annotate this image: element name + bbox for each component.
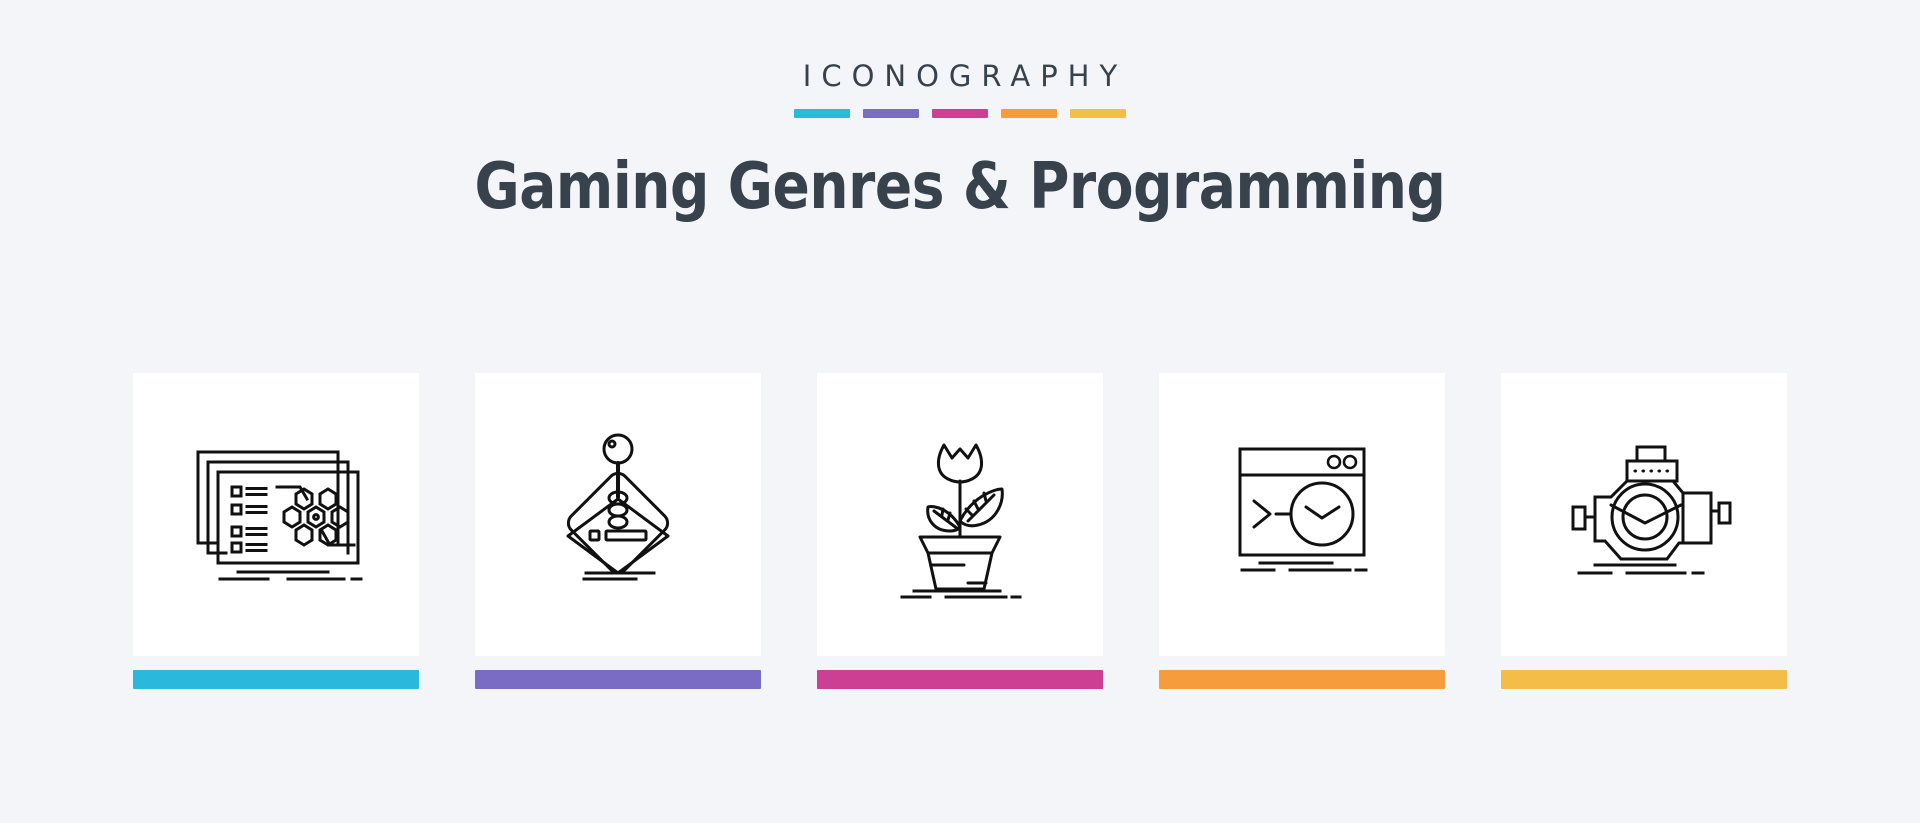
icon-card-potted-plant[interactable] [817, 373, 1103, 656]
game-engine-icon [1539, 425, 1749, 605]
rule-segment-orange [1001, 109, 1057, 118]
icon-card-data-slides-honeycomb[interactable] [133, 373, 419, 656]
icon-cell-2 [475, 373, 761, 689]
potted-plant-icon [860, 425, 1060, 605]
icon-card-terminal-clock[interactable] [1159, 373, 1445, 656]
icon-cell-5 [1501, 373, 1787, 689]
data-slides-honeycomb-icon [176, 425, 376, 605]
page-header: ICONOGRAPHY Gaming Genres & Programming [0, 0, 1920, 221]
rule-segment-magenta [932, 109, 988, 118]
joystick-icon [518, 425, 718, 605]
terminal-clock-icon [1202, 425, 1402, 605]
icon-cell-1 [133, 373, 419, 689]
brand-color-rule [0, 109, 1920, 118]
accent-bar-2 [475, 670, 761, 689]
rule-segment-cyan [794, 109, 850, 118]
rule-segment-yellow [1070, 109, 1126, 118]
brand-title: ICONOGRAPHY [0, 0, 1920, 91]
icon-card-game-engine[interactable] [1501, 373, 1787, 656]
accent-bar-4 [1159, 670, 1445, 689]
rule-segment-purple [863, 109, 919, 118]
icon-pack-page: ICONOGRAPHY Gaming Genres & Programming [0, 0, 1920, 823]
page-title: Gaming Genres & Programming [134, 118, 1785, 221]
icon-cell-4 [1159, 373, 1445, 689]
icon-grid [133, 373, 1787, 689]
accent-bar-3 [817, 670, 1103, 689]
accent-bar-5 [1501, 670, 1787, 689]
icon-cell-3 [817, 373, 1103, 689]
icon-card-joystick[interactable] [475, 373, 761, 656]
accent-bar-1 [133, 670, 419, 689]
